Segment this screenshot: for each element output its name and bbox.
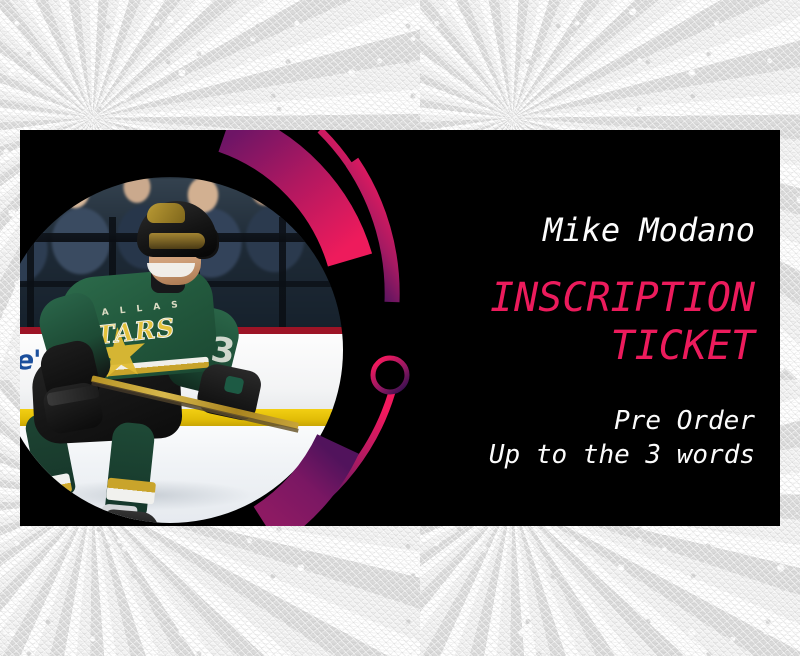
player-right-glove-patch: [224, 375, 245, 394]
player-chinstrap: [147, 263, 195, 277]
player-name: Mike Modano: [335, 214, 755, 248]
helmet-visor: [149, 233, 205, 249]
player-photo-circle: ille's D A L L A S STARS 3: [20, 177, 343, 523]
helmet-gold-decal: [147, 203, 185, 223]
order-note: Pre Order Up to the 3 words: [335, 405, 755, 473]
photo-player-figure: D A L L A S STARS 3: [20, 177, 343, 523]
inscription-ticket-card: ille's D A L L A S STARS 3: [20, 130, 780, 526]
player-front-skate: [102, 509, 160, 523]
order-note-line-2: Up to the 3 words: [335, 439, 755, 473]
inscription-heading: INSCRIPTION TICKET: [335, 274, 755, 372]
player-back-skate: [20, 491, 69, 523]
heading-line-ticket: TICKET: [335, 322, 755, 371]
ticket-text-block: Mike Modano INSCRIPTION TICKET Pre Order…: [335, 214, 755, 473]
heading-line-inscription: INSCRIPTION: [490, 275, 755, 321]
order-note-line-1: Pre Order: [335, 405, 755, 439]
